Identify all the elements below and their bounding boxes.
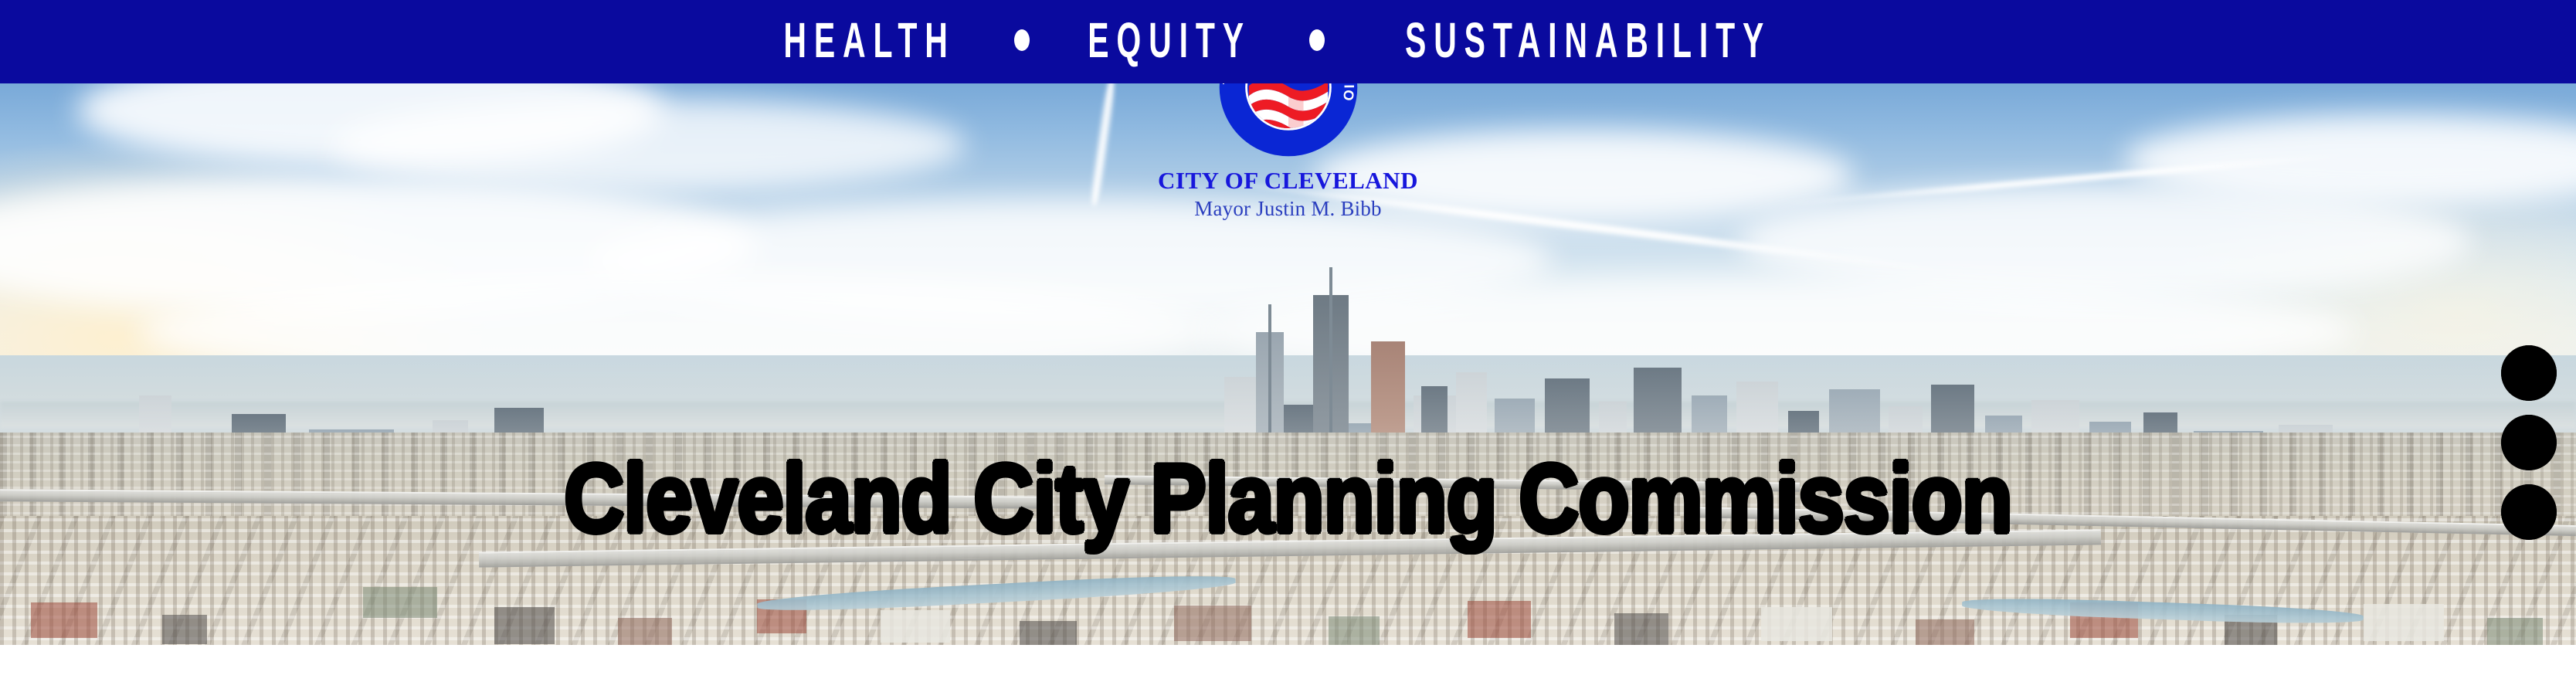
bullet-dot-icon <box>1309 29 1325 51</box>
youtube-icon[interactable] <box>2501 345 2557 401</box>
tagline-word-sustainability: SUSTAINABILITY <box>1405 15 1771 65</box>
bullet-dot-icon <box>1014 29 1030 51</box>
mayor-name-label: Mayor Justin M. Bibb <box>1054 198 1522 219</box>
city-name-label: CITY OF CLEVELAND <box>1054 168 1522 194</box>
page-title: Cleveland City Planning Commission <box>0 450 2576 547</box>
tagline-word-health: HEALTH <box>783 15 955 65</box>
facebook-icon[interactable] <box>2501 484 2557 540</box>
instagram-icon[interactable] <box>2501 415 2557 470</box>
tagline-banner: HEALTH EQUITY SUSTAINABILITY <box>0 0 2576 83</box>
tagline-word-equity: EQUITY <box>1088 15 1251 65</box>
social-links-rail <box>2501 345 2557 540</box>
tagline-inner: HEALTH EQUITY SUSTAINABILITY <box>765 21 1811 59</box>
